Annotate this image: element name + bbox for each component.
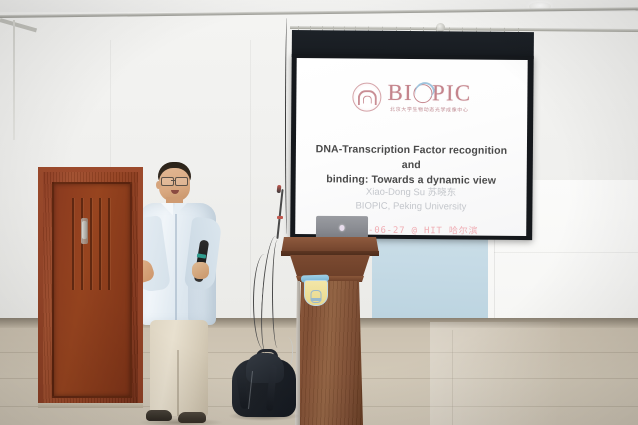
glasses-icon [161,177,174,186]
biopic-wordmark-o-icon [413,83,432,102]
slide-title-line-1: DNA-Transcription Factor recognition and [306,142,517,174]
lecture-photograph: BI PIC 北京大学生物动态光学成像中心 DNA-Transcription … [0,0,638,425]
apple-logo-icon [339,225,344,231]
peking-university-seal-icon [352,82,381,111]
glasses-bridge [171,180,176,181]
screen-surface: BI PIC 北京大学生物动态光学成像中心 DNA-Transcription … [295,58,528,236]
biopic-wordmark-bi: BI [387,81,413,104]
trousers [150,320,208,416]
screen-frame: BI PIC 北京大学生物动态光学成像中心 DNA-Transcription … [290,54,534,240]
floor-reflection [430,322,560,425]
wall-seam [250,40,251,340]
biopic-wordmark-pic: PIC [432,81,472,104]
biopic-wordmark-text: BI PIC [387,81,471,105]
lectern-neck [290,255,370,277]
slide-author-affiliation: BIOPIC, Peking University [305,199,516,215]
biopic-wordmark: BI PIC 北京大学生物动态光学成像中心 [387,81,471,114]
cable-plug-icon [277,216,283,219]
glasses-icon [175,177,188,186]
biopic-chinese-subtitle: 北京大学生物动态光学成像中心 [390,106,468,114]
wall-seam [494,252,638,253]
trouser-seam [177,350,179,416]
presenter-shadow [138,418,224,425]
university-crest-icon [302,275,328,305]
slide-title: DNA-Transcription Factor recognition and… [306,142,517,189]
door-handle-icon[interactable] [82,221,87,239]
right-hand-holding-mic [192,262,209,279]
door-panel [52,182,132,398]
screen-cable [285,18,289,234]
projection-screen: BI PIC 北京大学生物动态光学成像中心 DNA-Transcription … [290,26,534,240]
floor-cable [253,254,276,350]
black-backpack [228,345,300,421]
rail-drop-wire [13,20,15,140]
shirt-placket [175,214,177,322]
wooden-door[interactable] [43,172,138,406]
biopic-logo: BI PIC 北京大学生物动态光学成像中心 [296,80,527,114]
laptop-apple[interactable] [316,216,368,238]
presentation-slide: BI PIC 北京大学生物动态光学成像中心 DNA-Transcription … [295,58,528,236]
slide-author-block: Xiao-Dong Su 苏晓东 BIOPIC, Peking Universi… [305,185,516,215]
door-threshold [38,403,143,408]
presenter-standing [128,162,232,425]
